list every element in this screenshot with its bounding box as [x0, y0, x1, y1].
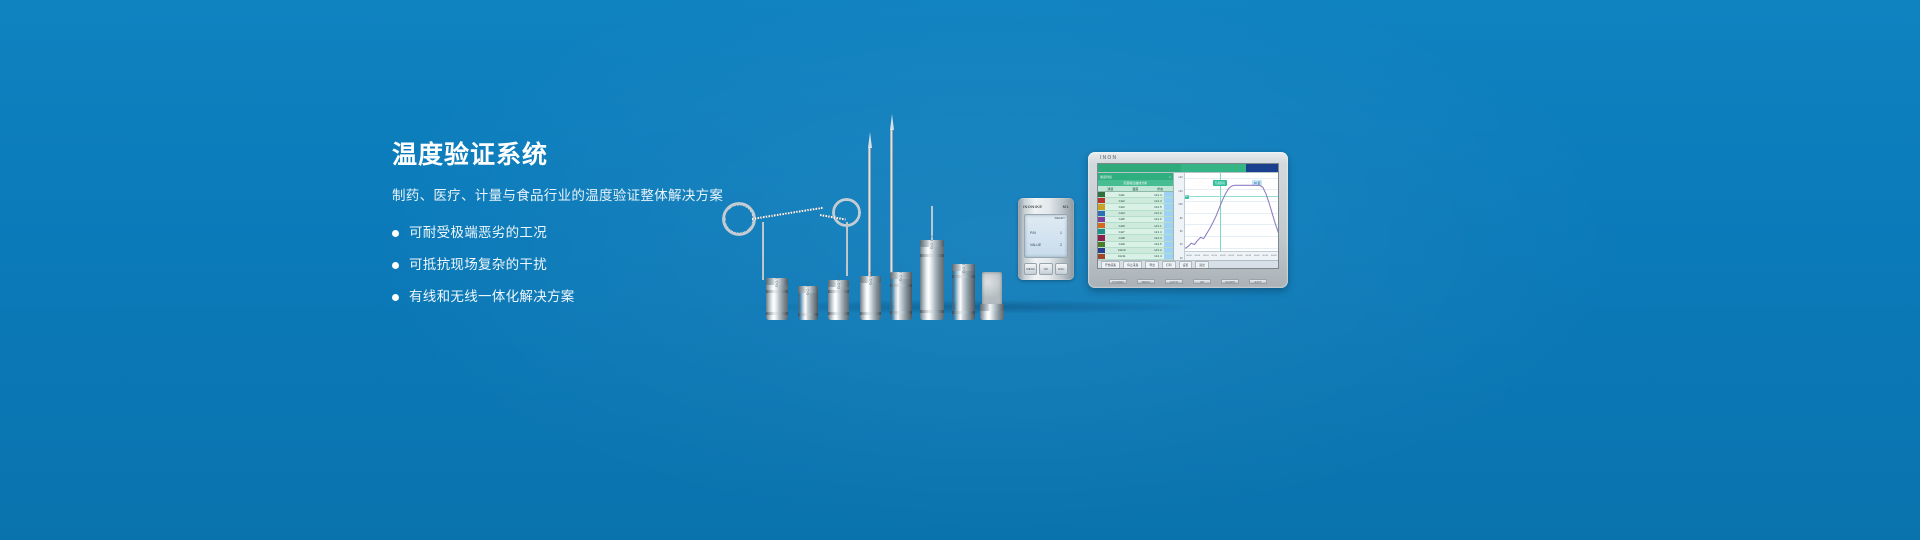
- cell-temperature: 121.3: [1138, 236, 1163, 240]
- validation-monitor: INON 通道列表 × 灭菌验证曲线分析: [1088, 152, 1288, 288]
- cell-channel: CH4: [1105, 211, 1138, 215]
- y-axis-tick: 80: [1180, 217, 1183, 220]
- y-axis-tick: 20: [1180, 257, 1183, 260]
- wireless-logger-4: T-LOG: [860, 276, 881, 320]
- logger-label: T-LOG: [899, 267, 904, 282]
- channel-color-swatch: [1098, 217, 1105, 222]
- reader-row-label: P/N: [1030, 231, 1036, 235]
- channel-color-swatch: [1098, 192, 1105, 197]
- chart-x-axis: 00:0000:0500:1000:1500:2000:2500:3000:35…: [1185, 251, 1278, 260]
- channel-color-swatch: [1098, 254, 1105, 259]
- status-bar-button[interactable]: 导出: [1145, 261, 1159, 269]
- list-item: 可耐受极端恶劣的工况: [392, 224, 812, 243]
- reader-brand: INONIKE: [1023, 204, 1042, 209]
- feature-text: 有线和无线一体化解决方案: [409, 288, 575, 307]
- status-bar-button[interactable]: 设置: [1179, 261, 1193, 269]
- subtitle: 制药、医疗、计量与食品行业的温度验证整体解决方案: [392, 186, 812, 206]
- wireless-logger-6: T-LOG: [920, 240, 944, 320]
- cell-status: [1164, 235, 1173, 240]
- cell-status: [1164, 211, 1173, 216]
- status-bar-button[interactable]: 开始采集: [1101, 261, 1120, 269]
- x-axis-tick: 00:40: [1252, 255, 1260, 257]
- cell-status: [1164, 223, 1173, 228]
- column-header-status: 状态: [1157, 187, 1163, 191]
- cell-temperature: 121.4: [1138, 230, 1163, 234]
- cell-temperature: 121.3: [1138, 199, 1163, 203]
- cell-temperature: 121.4: [1138, 254, 1163, 258]
- bezel-button[interactable]: DOWN: [1221, 279, 1239, 284]
- cell-status: [1164, 204, 1173, 209]
- cell-temperature: 121.2: [1138, 211, 1163, 215]
- x-axis-tick: 00:35: [1244, 255, 1252, 257]
- chart-plot-area[interactable]: 灭菌阶段 F0 值 121: [1185, 173, 1278, 251]
- y-axis-tick: 100: [1178, 203, 1182, 206]
- reader-row-label: VALUE: [1030, 243, 1041, 247]
- reader-key-menu[interactable]: MENU: [1024, 263, 1037, 275]
- bullet-dot-icon: [392, 230, 399, 237]
- y-axis-tick: 60: [1180, 230, 1183, 233]
- channel-color-swatch: [1098, 211, 1105, 216]
- bullet-dot-icon: [392, 262, 399, 269]
- x-axis-tick: 00:15: [1210, 255, 1218, 257]
- bezel-button[interactable]: MENU: [1137, 279, 1155, 284]
- reader-row-value: 2: [1060, 243, 1062, 247]
- table-body[interactable]: CH1121.4CH2121.3CH3121.5CH4121.2CH5121.6…: [1098, 192, 1173, 260]
- toolbar-tab-acquisition[interactable]: [1098, 164, 1181, 172]
- x-axis-tick: 00:45: [1261, 255, 1269, 257]
- table-close-icon[interactable]: ×: [1169, 175, 1171, 179]
- channel-table: 通道列表 × 灭菌验证曲线分析 通道 温度 状态 CH1121.4CH2121.…: [1098, 173, 1174, 260]
- x-axis-tick: 00:30: [1236, 255, 1244, 257]
- copy-block: 温度验证系统 制药、医疗、计量与食品行业的温度验证整体解决方案 可耐受极端恶劣的…: [392, 140, 812, 320]
- cell-temperature: 121.4: [1138, 193, 1163, 197]
- app-status-bar[interactable]: 开始采集停止采集导出打印设置退出: [1098, 260, 1278, 268]
- x-axis-tick: 00:50: [1269, 255, 1277, 257]
- reader-screen-header: READY: [1055, 216, 1065, 220]
- cell-channel: CH9: [1105, 242, 1138, 246]
- feature-text: 可抵抗现场复杂的干扰: [409, 256, 547, 275]
- cell-temperature: 121.1: [1138, 224, 1163, 228]
- table-title-bar: 通道列表 ×: [1098, 173, 1173, 180]
- status-bar-button[interactable]: 停止采集: [1123, 261, 1142, 269]
- toolbar-tab-analysis[interactable]: [1181, 164, 1246, 172]
- cell-status: [1164, 198, 1173, 203]
- cell-channel: CH2: [1105, 199, 1138, 203]
- reader-key-esc[interactable]: ESC: [1055, 263, 1068, 275]
- x-axis-tick: 00:20: [1219, 255, 1227, 257]
- x-axis-tick: 00:25: [1227, 255, 1235, 257]
- wireless-logger-5: T-LOG: [890, 272, 912, 320]
- reader-row-value: 1: [1060, 231, 1062, 235]
- cell-channel: CH1: [1105, 193, 1138, 197]
- table-title: 通道列表: [1100, 175, 1112, 179]
- y-axis-tick: 120: [1178, 190, 1182, 193]
- logger-label: T-LOG: [930, 235, 935, 250]
- cell-channel: CH7: [1105, 230, 1138, 234]
- toolbar-tab-report[interactable]: [1246, 164, 1278, 172]
- logger-label: T-LOG: [836, 275, 841, 290]
- channel-color-swatch: [1098, 235, 1105, 240]
- logger-label: T-LOG: [868, 271, 873, 286]
- cell-status: [1164, 217, 1173, 222]
- mesh-sensor-base: [980, 304, 1004, 320]
- page-title: 温度验证系统: [392, 140, 812, 170]
- y-axis-tick: 40: [1180, 243, 1183, 246]
- cell-channel: CH10: [1105, 248, 1138, 252]
- cell-channel: CH5: [1105, 217, 1138, 221]
- status-bar-button[interactable]: 打印: [1162, 261, 1176, 269]
- mesh-sensor: [982, 272, 1002, 306]
- channel-color-swatch: [1098, 248, 1105, 253]
- channel-color-swatch: [1098, 223, 1105, 228]
- monitor-screen: 通道列表 × 灭菌验证曲线分析 通道 温度 状态 CH1121.4CH2121.…: [1097, 163, 1279, 269]
- reader-model: M1: [1063, 204, 1069, 209]
- list-item: 可抵抗现场复杂的干扰: [392, 256, 812, 275]
- channel-color-swatch: [1098, 198, 1105, 203]
- app-body: 通道列表 × 灭菌验证曲线分析 通道 温度 状态 CH1121.4CH2121.…: [1098, 173, 1278, 260]
- channel-color-swatch: [1098, 204, 1105, 209]
- y-axis-tick: 140: [1178, 176, 1182, 179]
- reader-brand-row: INONIKE M1: [1018, 204, 1074, 209]
- cell-channel: CH8: [1105, 236, 1138, 240]
- needle-probe-long: [890, 130, 893, 276]
- coiled-probe-right-stem: [846, 222, 848, 276]
- reader-screen-row: P/N 1: [1028, 229, 1064, 236]
- column-header-temp: 温度: [1132, 187, 1138, 191]
- x-axis-tick: 00:10: [1202, 255, 1210, 257]
- bezel-button[interactable]: UP: [1193, 279, 1211, 284]
- bezel-button[interactable]: POWER: [1109, 279, 1127, 284]
- feature-text: 可耐受极端恶劣的工况: [409, 224, 547, 243]
- bullet-dot-icon: [392, 294, 399, 301]
- cell-temperature: 121.6: [1138, 217, 1163, 221]
- x-axis-tick: 00:00: [1185, 255, 1193, 257]
- x-axis-tick: 00:05: [1193, 255, 1201, 257]
- reader-key-ok[interactable]: OK: [1039, 263, 1052, 275]
- cell-channel: CH11: [1105, 254, 1138, 258]
- temperature-chart[interactable]: 14012010080604020 灭菌阶段 F0 值 121 00:0000:…: [1174, 173, 1278, 260]
- chart-series-line: [1185, 173, 1278, 251]
- chart-y-axis: 14012010080604020: [1174, 173, 1185, 260]
- needle-probe-short: [868, 148, 871, 276]
- wireless-logger-3: T-LOG: [828, 280, 849, 320]
- promo-banner: 温度验证系统 制药、医疗、计量与食品行业的温度验证整体解决方案 可耐受极端恶劣的…: [0, 0, 1920, 540]
- cell-status: [1164, 192, 1173, 197]
- monitor-brand: INON: [1100, 155, 1117, 161]
- cell-status: [1164, 242, 1173, 247]
- cell-channel: CH6: [1105, 224, 1138, 228]
- cell-status: [1164, 229, 1173, 234]
- list-item: 有线和无线一体化解决方案: [392, 288, 812, 307]
- reader-screen: READY P/N 1 VALUE 2: [1024, 214, 1068, 258]
- monitor-bezel-buttons[interactable]: POWERMENUAUTOUPDOWNEXIT: [1088, 279, 1288, 284]
- reader-keypad[interactable]: MENU OK ESC: [1024, 263, 1068, 275]
- logger-label: T-LOG: [961, 259, 966, 274]
- channel-color-swatch: [1098, 229, 1105, 234]
- cell-temperature: 121.5: [1138, 205, 1163, 209]
- bezel-button[interactable]: EXIT: [1249, 279, 1267, 284]
- cell-status: [1164, 254, 1173, 259]
- feature-list: 可耐受极端恶劣的工况 可抵抗现场复杂的干扰 有线和无线一体化解决方案: [392, 224, 812, 307]
- cell-channel: CH3: [1105, 205, 1138, 209]
- app-toolbar: [1098, 164, 1278, 173]
- handheld-reader[interactable]: INONIKE M1 READY P/N 1 VALUE 2 MENU OK E…: [1018, 198, 1074, 280]
- wireless-logger-7: T-LOG: [952, 264, 975, 320]
- cell-temperature: 121.2: [1138, 248, 1163, 252]
- cell-temperature: 121.5: [1138, 242, 1163, 246]
- reader-screen-row: VALUE 2: [1028, 241, 1064, 248]
- channel-color-swatch: [1098, 242, 1105, 247]
- column-header-channel: 通道: [1107, 187, 1113, 191]
- bezel-button[interactable]: AUTO: [1165, 279, 1183, 284]
- cell-status: [1164, 248, 1173, 253]
- status-bar-button[interactable]: 退出: [1195, 261, 1209, 269]
